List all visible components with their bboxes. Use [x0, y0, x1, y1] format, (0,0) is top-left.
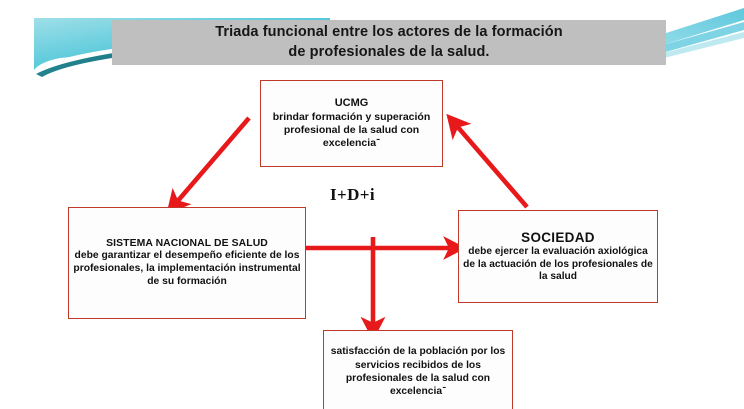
- slide-title-bar: Triada funcional entre los actores de la…: [112, 20, 666, 65]
- page-title: Triada funcional entre los actores de la…: [207, 23, 570, 61]
- node-sociedad-heading: SOCIEDAD: [521, 229, 595, 246]
- node-satisfaccion[interactable]: satisfacción de la población por los ser…: [323, 330, 513, 409]
- node-sistema-heading: SISTEMA NACIONAL DE SALUD: [106, 237, 268, 250]
- title-line-2: de profesionales de la salud.: [288, 44, 489, 60]
- arrow-sociedad-to-ucmg: [456, 125, 527, 207]
- node-ucmg[interactable]: UCMG brindar formación y superación prof…: [260, 80, 443, 167]
- arrow-ucmg-to-sistema: [176, 118, 249, 203]
- node-sistema-nacional-de-salud[interactable]: SISTEMA NACIONAL DE SALUD debe garantiza…: [68, 207, 306, 319]
- node-satisfaccion-body: satisfacción de la población por los ser…: [328, 345, 508, 399]
- node-sociedad-body: debe ejercer la evaluación axiológica de…: [463, 246, 653, 285]
- node-sistema-body: debe garantizar el desempeño eficiente d…: [73, 250, 301, 289]
- slide-canvas: Triada funcional entre los actores de la…: [0, 0, 744, 409]
- node-sociedad[interactable]: SOCIEDAD debe ejercer la evaluación axio…: [458, 210, 658, 303]
- node-ucmg-heading: UCMG: [335, 97, 369, 111]
- label-i-d-i: I+D+i: [330, 185, 375, 205]
- title-line-1: Triada funcional entre los actores de la…: [215, 24, 562, 40]
- node-ucmg-body: brindar formación y superación profesion…: [265, 111, 438, 151]
